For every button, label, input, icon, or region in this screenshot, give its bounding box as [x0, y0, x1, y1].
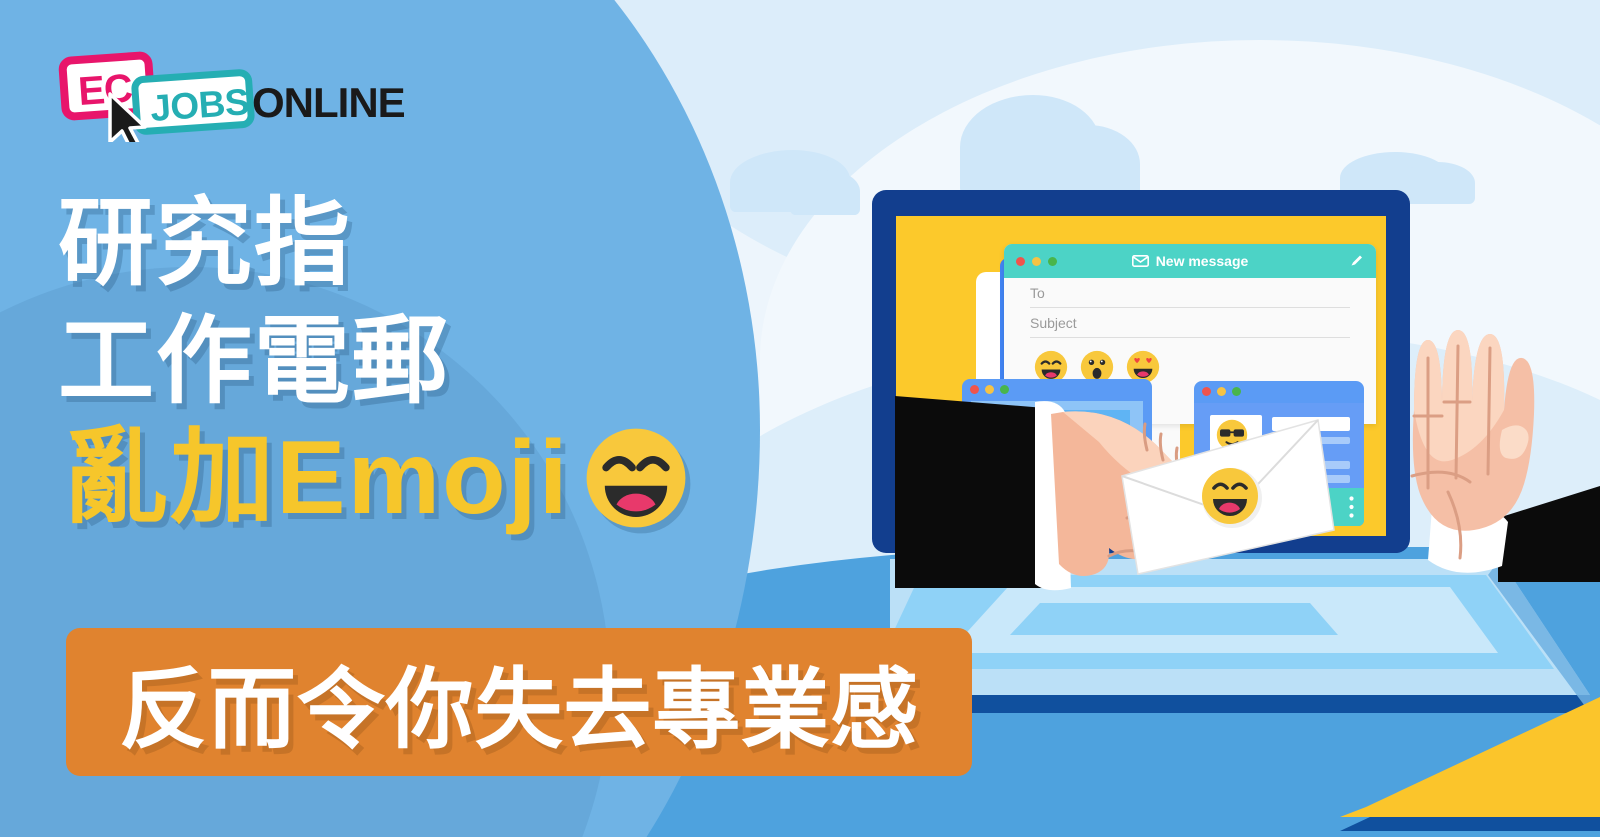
subject-field[interactable]: Subject	[1030, 308, 1350, 338]
envelope-with-emoji	[1112, 418, 1342, 578]
window-traffic-lights[interactable]	[1016, 257, 1057, 266]
compose-title-group: New message	[1004, 253, 1376, 269]
headline-line-3: 亂加Emoji	[64, 426, 1018, 530]
headline-banner-text: 反而令你失去專業感	[119, 639, 919, 766]
envelope-icon	[1132, 255, 1149, 267]
headline-line-2: 工作電郵	[58, 314, 1018, 410]
headline-line-1: 研究指	[58, 196, 1018, 292]
cloud-shape	[1400, 162, 1475, 204]
pencil-icon[interactable]	[1349, 253, 1364, 268]
grinning-face-emoji	[584, 426, 688, 530]
headline-line-3-text: 亂加Emoji	[64, 426, 570, 530]
compose-titlebar: New message	[1004, 244, 1376, 278]
cloud-shape	[1040, 125, 1140, 200]
yellow-arrow-accent	[1340, 691, 1600, 831]
stop-hand	[1378, 322, 1600, 582]
subject-field-placeholder: Subject	[1030, 315, 1077, 331]
logo-online-text: ONLINE	[252, 79, 405, 126]
to-field[interactable]: To	[1030, 278, 1350, 308]
compose-title-text: New message	[1156, 253, 1249, 269]
maximize-button[interactable]	[1048, 257, 1057, 266]
kebab-menu-icon[interactable]	[1349, 496, 1354, 518]
logo-jobs-badge: JOBS	[134, 72, 251, 132]
headline-banner: 反而令你失去專業感	[66, 628, 972, 776]
to-field-placeholder: To	[1030, 285, 1045, 301]
svg-text:JOBS: JOBS	[149, 81, 250, 129]
headline-block: 研究指 工作電郵 亂加Emoji	[58, 196, 1018, 530]
minimize-button[interactable]	[1032, 257, 1041, 266]
poster-canvas: New message To Subject	[0, 0, 1600, 837]
site-logo[interactable]: EC JOBS ONLINE EC JOBS ONLINE	[58, 50, 428, 140]
